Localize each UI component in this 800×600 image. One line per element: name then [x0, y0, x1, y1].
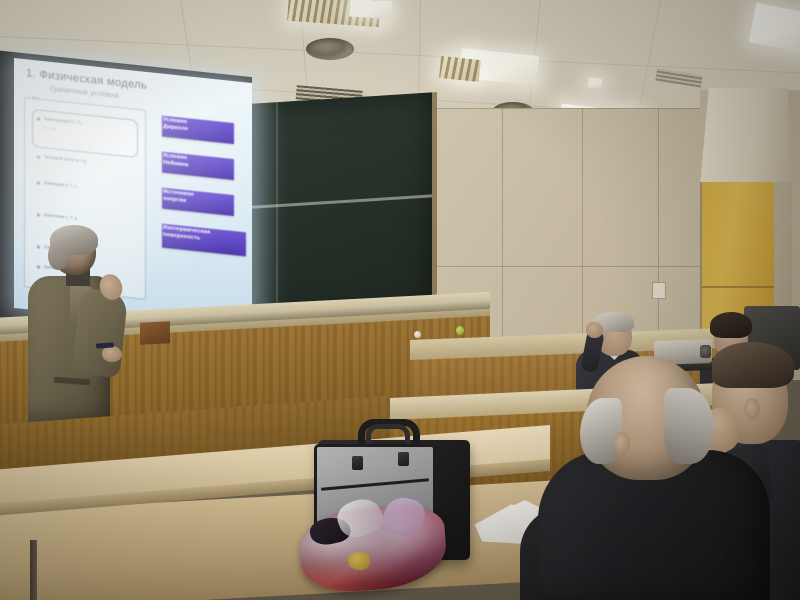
form-row-label: Излучение ε, T_s — [44, 212, 77, 220]
air-diffuser — [306, 38, 354, 60]
hand — [586, 322, 603, 338]
form-panel-legend: Вид — [30, 95, 41, 101]
desk-leg — [30, 540, 37, 600]
ceiling-light-panel — [439, 56, 481, 82]
projector-lens — [700, 345, 711, 358]
hair — [712, 342, 794, 388]
hand — [102, 346, 122, 362]
hair — [664, 388, 714, 464]
bag-detail — [348, 552, 370, 570]
radio-icon — [37, 155, 40, 158]
radio-icon — [37, 117, 40, 120]
form-row-label: Тепловой поток q = q₀ — [44, 154, 87, 163]
hair — [710, 312, 752, 338]
slide-title: 1. Физическая модель — [26, 67, 147, 92]
form-row-label: Конвекция α, T_c — [44, 180, 77, 189]
ceiling-light-panel — [349, 0, 392, 19]
hair — [580, 398, 622, 464]
arm — [72, 288, 129, 379]
ear — [744, 398, 760, 420]
box-on-lectern — [140, 321, 170, 345]
ceiling-light-panel — [587, 77, 602, 89]
briefcase-latch — [352, 456, 363, 470]
radio-icon — [37, 213, 40, 216]
small-object-on-ledge — [456, 326, 464, 335]
blackboard — [232, 92, 437, 327]
lecture-hall-photo: 1. Физическая модель Граничные условия В… — [0, 0, 800, 600]
wall-socket — [652, 282, 666, 299]
ear — [614, 432, 630, 454]
column-capital — [700, 88, 788, 186]
small-object-on-ledge — [414, 331, 421, 338]
hair — [50, 225, 98, 255]
radio-icon — [37, 181, 40, 184]
briefcase-handle-inner — [366, 424, 410, 446]
briefcase-latch — [398, 452, 409, 466]
